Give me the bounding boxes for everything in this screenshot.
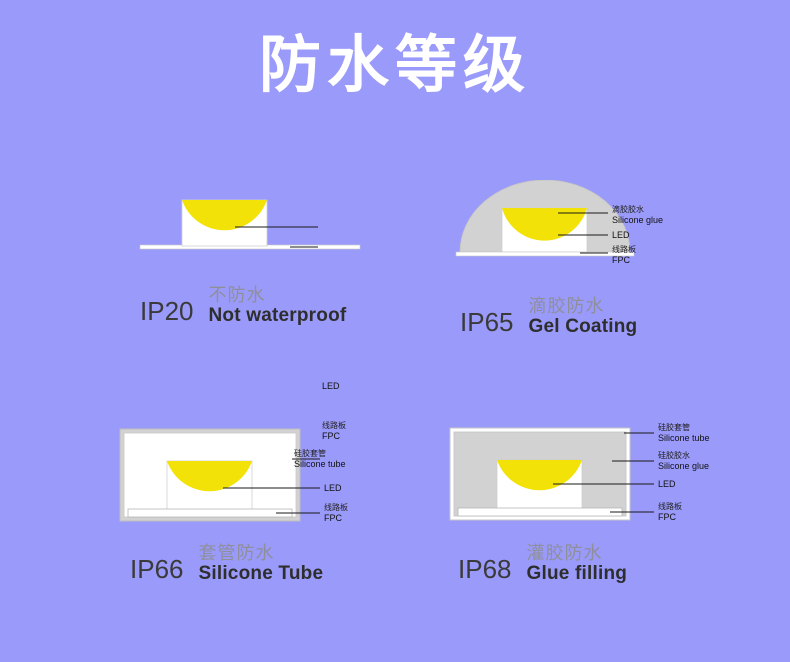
ip20-name: 不防水 Not waterproof [209,287,347,326]
caption-ip65: IP65 滴胶防水 Gel Coating [460,298,637,337]
waterproof-grade-infographic: 防水等级 LED 线路板 FPC IP20 不防水 Not waterproof [0,0,790,662]
ip66-code: IP66 [130,556,184,584]
ip65-label-silicone-glue: 滴胶胶水 Silicone glue [612,206,663,225]
ip66-label-fpc: 线路板 FPC [324,504,348,523]
ip68-label-silicone-glue: 硅胶胶水 Silicone glue [658,452,709,471]
ip68-label-fpc: 线路板 FPC [658,503,682,522]
page-title: 防水等级 [0,28,790,102]
caption-ip68: IP68 灌胶防水 Glue filling [458,545,627,584]
ip68-label-led: LED [658,479,676,489]
ip68-fpc-strip [458,508,622,516]
ip65-code: IP65 [460,309,514,337]
ip20-label-led: LED [322,381,340,391]
caption-ip20: IP20 不防水 Not waterproof [140,287,346,326]
ip20-code: IP20 [140,298,194,326]
ip66-name: 套管防水 Silicone Tube [199,545,324,584]
ip68-label-silicone-tube: 硅胶套管 Silicone tube [658,424,710,443]
ip66-label-led: LED [324,483,342,493]
ip65-label-fpc: 线路板 FPC [612,246,636,265]
ip66-label-silicone-tube: 硅胶套管 Silicone tube [294,450,346,469]
ip68-code: IP68 [458,556,512,584]
ip66-fpc-strip [128,509,292,517]
caption-ip66: IP66 套管防水 Silicone Tube [130,545,323,584]
ip68-name: 灌胶防水 Glue filling [527,545,628,584]
ip65-name: 滴胶防水 Gel Coating [529,298,638,337]
ip65-label-led: LED [612,230,630,240]
